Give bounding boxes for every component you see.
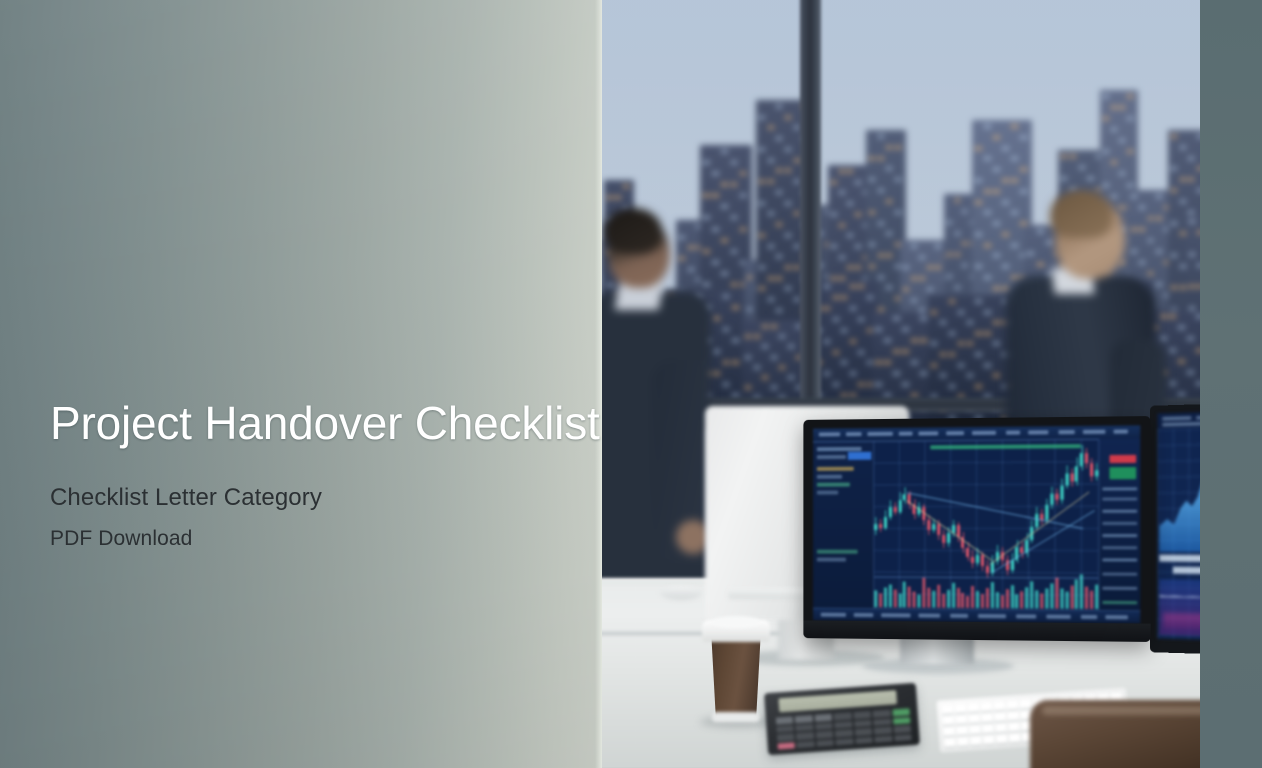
candle-body [1085, 453, 1088, 463]
volume-bar [1025, 587, 1028, 608]
secondary-monitor-screen [1157, 410, 1200, 641]
left-wall-panel [0, 0, 602, 768]
calculator-key [814, 714, 832, 722]
candle-body [1065, 474, 1068, 486]
key [943, 727, 955, 737]
volume-bar [1075, 580, 1078, 609]
candle-body [927, 520, 930, 530]
volume-bar [1011, 585, 1014, 609]
calculator-key [853, 711, 871, 719]
candle-body [1045, 505, 1048, 520]
imac-keyboard [728, 588, 812, 599]
calculator-key [836, 738, 854, 746]
volume-bar [991, 582, 994, 608]
key [955, 715, 967, 725]
volume-bar [981, 594, 984, 608]
calculator-key [816, 739, 834, 747]
calculator-key [874, 735, 892, 743]
mouse [660, 586, 702, 600]
key [957, 737, 969, 747]
candle-body [971, 557, 974, 564]
volume-bar [927, 588, 930, 608]
volume-bar [1055, 577, 1058, 608]
volume-bar [898, 593, 901, 607]
candle-body [937, 524, 940, 536]
wall-edge [595, 0, 602, 768]
calculator-key [893, 717, 911, 725]
indicator-line [1159, 595, 1200, 599]
candle-body [898, 501, 901, 512]
calculator-key [873, 718, 891, 726]
volume-bar [918, 595, 921, 608]
volume-bar [996, 592, 999, 608]
calculator [764, 683, 920, 755]
candle-body [1060, 485, 1063, 500]
candle-body [1070, 474, 1073, 482]
coffee-cup [708, 636, 764, 718]
candle-body [942, 535, 945, 543]
volume-bar [932, 591, 935, 608]
volume-bar [1070, 586, 1073, 609]
cup-base [712, 712, 760, 722]
volume-bar [1016, 594, 1019, 608]
key [982, 724, 994, 734]
hair [1050, 190, 1112, 238]
volume-bar [1035, 590, 1038, 608]
candle-body [889, 507, 892, 517]
secondary-monitor [1150, 402, 1200, 656]
calculator-key [796, 732, 814, 740]
chart-toolbar [1157, 410, 1200, 429]
calculator-key [874, 727, 892, 735]
volume-bar [903, 581, 906, 607]
key [996, 734, 1008, 744]
key [942, 705, 954, 715]
volume-bar [879, 594, 882, 607]
calculator-key [873, 710, 891, 718]
volume-bar [1001, 595, 1004, 608]
key [1007, 700, 1019, 710]
candle-body [1090, 463, 1093, 476]
candle-body [976, 555, 979, 563]
candle-body [1050, 494, 1053, 506]
volume-bar [1090, 591, 1093, 609]
volume-bar [976, 591, 979, 608]
cup-lid-top [712, 616, 760, 628]
monitor-stand [900, 636, 974, 664]
slide-canvas: Project Handover Checklist Checklist Let… [0, 0, 1262, 768]
chart-plot-area [873, 439, 1099, 623]
key [955, 704, 967, 714]
calculator-key [854, 719, 872, 727]
candle-body [874, 524, 877, 531]
volume-bar [952, 583, 955, 608]
candle-body [1055, 494, 1058, 501]
hair [604, 208, 662, 254]
indicator-glow [1163, 613, 1200, 631]
volume-bar [1050, 583, 1053, 608]
key [943, 716, 955, 726]
volume-bar [889, 584, 892, 607]
key [956, 726, 968, 736]
calculator-key [816, 731, 834, 739]
candle-body [893, 507, 896, 512]
chart-toolbar [813, 425, 1140, 442]
key [968, 714, 980, 724]
key [981, 702, 993, 712]
calculator-key [796, 724, 814, 732]
volume-bar [893, 589, 896, 607]
page-subtitle: Checklist Letter Category [50, 484, 590, 513]
trend-line [990, 492, 1090, 566]
calculator-key [834, 712, 852, 720]
key [1020, 699, 1032, 709]
candle-body [932, 524, 935, 531]
key [1009, 733, 1021, 743]
volume-bar [986, 588, 989, 608]
calculator-key [834, 721, 852, 729]
calculator-key [795, 715, 813, 723]
candle-body [903, 494, 906, 501]
key [981, 713, 993, 723]
volume-bar [1045, 588, 1048, 609]
candle-body [1080, 453, 1083, 466]
right-background-band [1200, 0, 1262, 768]
candle-body [884, 517, 887, 528]
candle-body [1035, 514, 1038, 527]
volume-bar [874, 591, 877, 607]
candle-body [966, 548, 969, 556]
chart-band [1173, 567, 1200, 575]
selected-symbol-highlight [848, 452, 871, 460]
candle-body [947, 533, 950, 543]
key [983, 735, 995, 745]
key [969, 725, 981, 735]
volume-bar [957, 588, 960, 608]
volume-bar [923, 578, 926, 608]
volume-bar [908, 586, 911, 607]
trend-line [906, 500, 992, 561]
price-tag-up [1109, 467, 1136, 479]
trading-monitor [803, 416, 1150, 642]
candle-body [986, 566, 989, 573]
key [1008, 722, 1020, 732]
calculator-key [777, 733, 795, 741]
page-title: Project Handover Checklist [50, 398, 590, 450]
volume-bar [942, 593, 945, 607]
volume-bar [947, 590, 950, 608]
key [970, 736, 982, 746]
calculator-key [835, 729, 853, 737]
calculator-keypad [776, 708, 912, 749]
calculator-key [778, 742, 796, 750]
calculator-key [815, 722, 833, 730]
calculator-key [776, 725, 794, 733]
volume-bar [1040, 593, 1043, 608]
calculator-key [797, 740, 815, 748]
volume-bar [937, 585, 940, 608]
volume-bar [1065, 592, 1068, 609]
volume-bar [1020, 591, 1023, 608]
calculator-key [893, 725, 911, 733]
volume-bar [884, 588, 887, 607]
office-chair-highlight [1042, 706, 1200, 715]
candle-body [879, 524, 882, 529]
volume-bar [961, 593, 964, 608]
key [995, 723, 1007, 733]
chart-band [1159, 555, 1200, 563]
candle-body [981, 555, 984, 567]
window-mullion-vertical [800, 0, 821, 430]
lower-indicator-panel [1159, 579, 1200, 637]
price-tag-down [1109, 455, 1136, 463]
volume-bar [971, 586, 974, 608]
calculator-key [855, 736, 873, 744]
price-scale [1098, 439, 1140, 624]
volume-bar [1060, 589, 1063, 609]
key [944, 737, 956, 747]
calculator-display [778, 690, 897, 712]
volume-bar [1006, 589, 1009, 608]
calculator-key [854, 728, 872, 736]
candle-body [1075, 467, 1078, 482]
volume-bar [913, 592, 916, 608]
page-meta-download: PDF Download [50, 526, 590, 551]
volume-bar [1085, 587, 1088, 609]
calculator-key [894, 734, 912, 742]
calculator-key [892, 708, 910, 716]
volume-bar [1080, 574, 1083, 608]
key [1007, 711, 1019, 721]
key [994, 701, 1006, 711]
key [994, 712, 1006, 722]
calculator-key [776, 716, 794, 724]
chart-sidebar [813, 441, 874, 621]
wall-sheen [0, 0, 602, 768]
trading-monitor-screen [813, 425, 1140, 623]
volume-bar [1030, 581, 1033, 608]
key [968, 703, 980, 713]
volume-bar [966, 596, 969, 608]
hero-text-block: Project Handover Checklist Checklist Let… [50, 398, 590, 552]
